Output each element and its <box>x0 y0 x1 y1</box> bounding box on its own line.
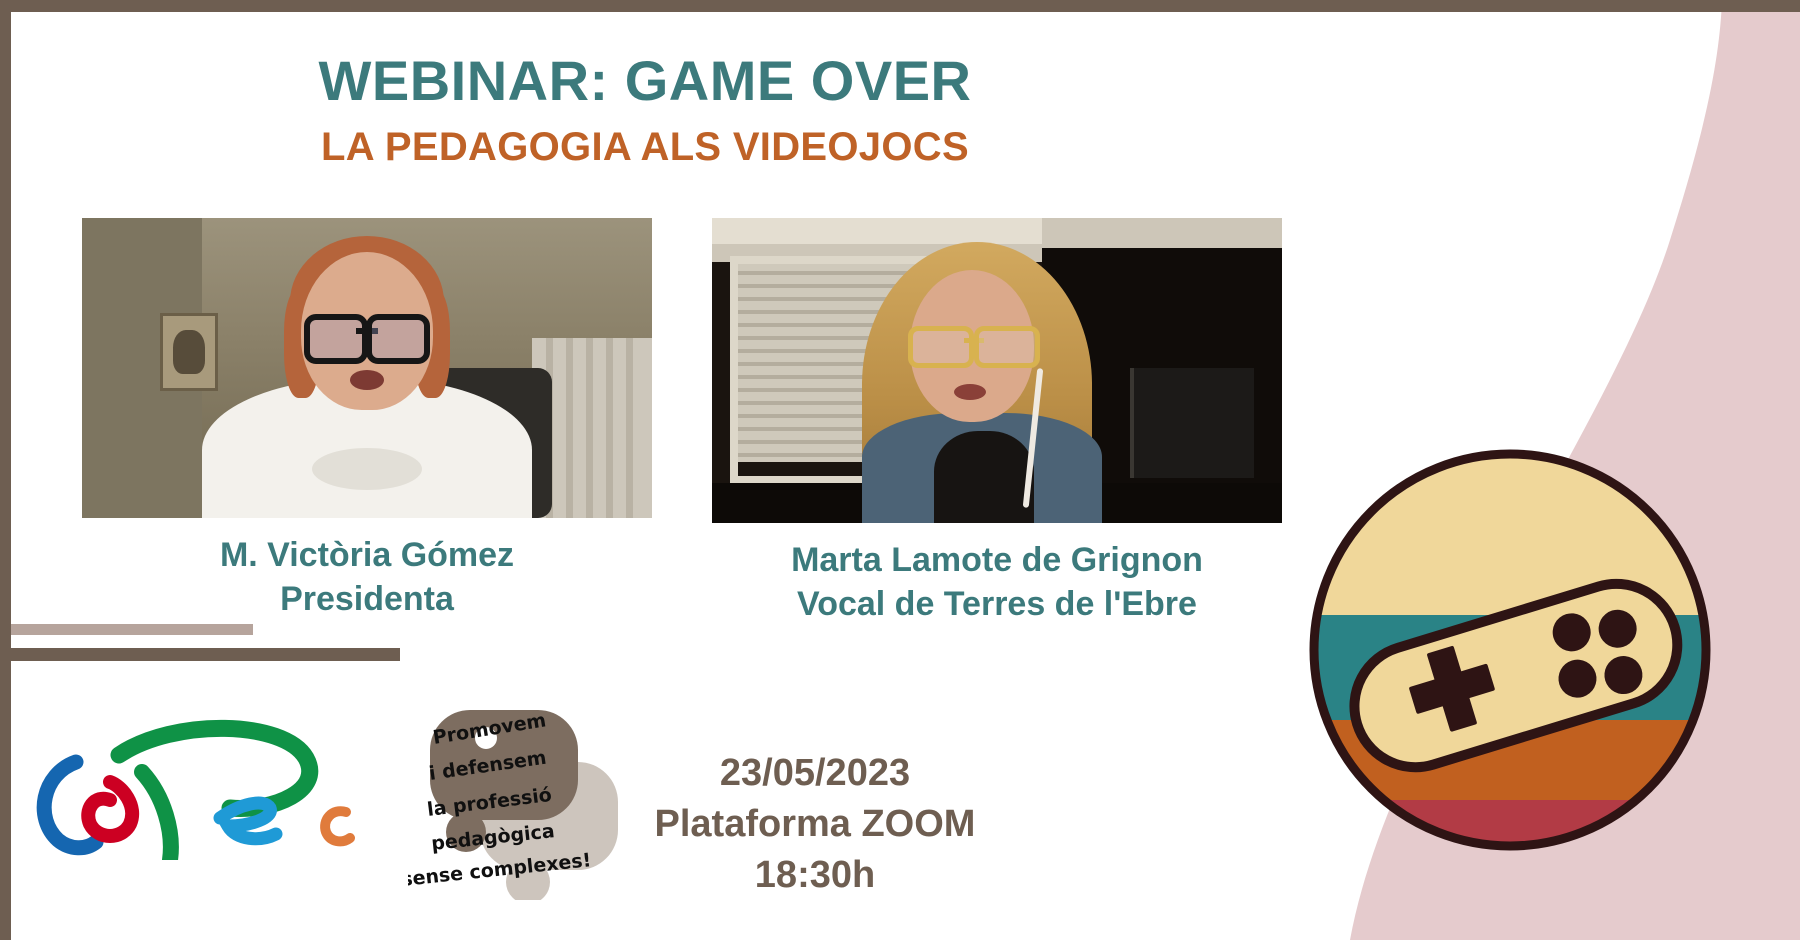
event-platform: Plataforma ZOOM <box>620 799 1010 850</box>
speaker-role-2: Vocal de Terres de l'Ebre <box>712 583 1282 627</box>
top-border-bar <box>0 0 1800 12</box>
event-time: 18:30h <box>620 850 1010 901</box>
divider-light <box>11 624 253 635</box>
poster-header: WEBINAR: GAME OVER LA PEDAGOGIA ALS VIDE… <box>0 52 1290 169</box>
game-controller-icon <box>1300 440 1720 860</box>
event-date: 23/05/2023 <box>620 748 1010 799</box>
divider-dark <box>11 648 400 661</box>
speaker-role-1: Presidenta <box>82 578 652 622</box>
event-info: 23/05/2023 Plataforma ZOOM 18:30h <box>620 748 1010 901</box>
speaker-name-1: M. Victòria Gómez <box>82 534 652 578</box>
left-border-bar <box>0 0 11 940</box>
speaker-card-1: M. Victòria Gómez Presidenta <box>82 218 652 626</box>
copec-logo: COPEC <box>24 700 384 860</box>
webcam-feed-speaker-2 <box>712 218 1282 523</box>
slogan-badge: Promovem i defensem la professió pedagòg… <box>408 700 648 900</box>
webcam-feed-speaker-1 <box>82 218 652 518</box>
speaker-name-2: Marta Lamote de Grignon <box>712 539 1282 583</box>
page-title: WEBINAR: GAME OVER <box>0 52 1290 111</box>
page-subtitle: LA PEDAGOGIA ALS VIDEOJOCS <box>0 125 1290 169</box>
webinar-poster: WEBINAR: GAME OVER LA PEDAGOGIA ALS VIDE… <box>0 0 1800 940</box>
speaker-card-2: Marta Lamote de Grignon Vocal de Terres … <box>712 218 1282 626</box>
speaker-panels: M. Victòria Gómez Presidenta <box>82 218 1282 626</box>
